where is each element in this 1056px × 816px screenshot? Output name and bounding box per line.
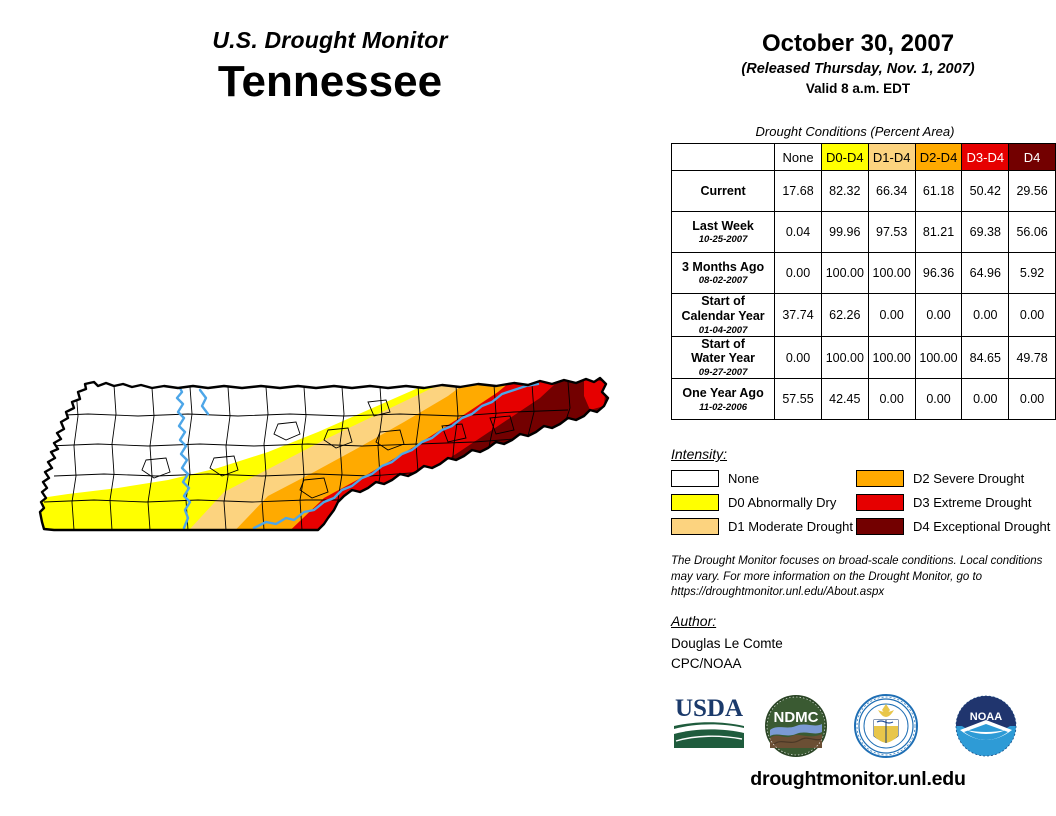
- legend-label-d1: D1 Moderate Drought: [728, 519, 853, 534]
- table-cell: 0.00: [915, 294, 962, 337]
- table-cell: 0.00: [775, 336, 822, 379]
- program-title: U.S. Drought Monitor: [0, 28, 660, 53]
- drought-conditions-table: None D0-D4 D1-D4 D2-D4 D3-D4 D4 Current1…: [671, 143, 1056, 420]
- release-date: October 30, 2007: [660, 30, 1056, 58]
- header-d1-d4: D1-D4: [868, 144, 915, 171]
- legend-swatch-d4: [856, 518, 904, 535]
- table-cell: 99.96: [821, 212, 868, 253]
- table-cell: 66.34: [868, 171, 915, 212]
- drought-intensity-bands: [28, 372, 640, 542]
- table-cell: 82.32: [821, 171, 868, 212]
- table-cell: 0.00: [962, 294, 1009, 337]
- table-row: Start ofWater Year09-27-20070.00100.0010…: [672, 336, 1056, 379]
- ndmc-logo: NDMC: [760, 690, 832, 762]
- state-title: Tennessee: [0, 57, 660, 108]
- intensity-legend: NoneD2 Severe DroughtD0 Abnormally DryD3…: [671, 466, 1051, 538]
- table-cell: 50.42: [962, 171, 1009, 212]
- table-cell: 0.04: [775, 212, 822, 253]
- released-note: (Released Thursday, Nov. 1, 2007): [660, 61, 1056, 78]
- legend-swatch-d1: [671, 518, 719, 535]
- site-url: droughtmonitor.unl.edu: [660, 768, 1056, 791]
- table-cell: 96.36: [915, 253, 962, 294]
- legend-item-d0: D0 Abnormally Dry: [671, 494, 856, 511]
- legend-label-d2: D2 Severe Drought: [913, 471, 1024, 486]
- valid-note: Valid 8 a.m. EDT: [660, 81, 1056, 97]
- title-block: U.S. Drought Monitor Tennessee: [0, 28, 660, 108]
- table-cell: 42.45: [821, 379, 868, 420]
- table-cell: 81.21: [915, 212, 962, 253]
- intensity-heading: Intensity:: [671, 446, 727, 462]
- table-cell: 62.26: [821, 294, 868, 337]
- row-label: Start ofWater Year09-27-2007: [672, 336, 775, 379]
- table-cell: 100.00: [821, 253, 868, 294]
- map-svg: [28, 372, 640, 542]
- legend-swatch-d3: [856, 494, 904, 511]
- table-header-row: None D0-D4 D1-D4 D2-D4 D3-D4 D4: [672, 144, 1056, 171]
- row-label: Current: [672, 171, 775, 212]
- row-label: Start ofCalendar Year01-04-2007: [672, 294, 775, 337]
- legend-label-d3: D3 Extreme Drought: [913, 495, 1032, 510]
- table-cell: 100.00: [821, 336, 868, 379]
- author-name: Douglas Le Comte: [671, 634, 783, 654]
- table-cell: 0.00: [1009, 379, 1056, 420]
- table-row: Start ofCalendar Year01-04-200737.7462.2…: [672, 294, 1056, 337]
- table-cell: 0.00: [775, 253, 822, 294]
- legend-item-none: None: [671, 470, 856, 487]
- author-heading: Author:: [671, 613, 716, 629]
- table-cell: 56.06: [1009, 212, 1056, 253]
- table-cell: 0.00: [915, 379, 962, 420]
- table-cell: 100.00: [868, 336, 915, 379]
- legend-label-d0: D0 Abnormally Dry: [728, 495, 836, 510]
- usda-logo: USDA: [670, 690, 748, 752]
- table-cell: 69.38: [962, 212, 1009, 253]
- legend-item-d4: D4 Exceptional Drought: [856, 518, 1051, 535]
- info-panel: October 30, 2007 (Released Thursday, Nov…: [660, 0, 1056, 816]
- table-cell: 0.00: [1009, 294, 1056, 337]
- table-cell: 0.00: [962, 379, 1009, 420]
- disclaimer-text: The Drought Monitor focuses on broad-sca…: [671, 554, 1051, 601]
- table-cell: 97.53: [868, 212, 915, 253]
- legend-swatch-none: [671, 470, 719, 487]
- row-label: One Year Ago11-02-2006: [672, 379, 775, 420]
- row-date: 08-02-2007: [672, 275, 774, 286]
- table-cell: 84.65: [962, 336, 1009, 379]
- table-cell: 29.56: [1009, 171, 1056, 212]
- table-cell: 57.55: [775, 379, 822, 420]
- legend-item-d3: D3 Extreme Drought: [856, 494, 1051, 511]
- date-block: October 30, 2007 (Released Thursday, Nov…: [660, 30, 1056, 97]
- table-cell: 49.78: [1009, 336, 1056, 379]
- row-date: 01-04-2007: [672, 325, 774, 336]
- logo-row: USDA NDMC: [665, 690, 1055, 770]
- table-cell: 61.18: [915, 171, 962, 212]
- author-affiliation: CPC/NOAA: [671, 654, 783, 674]
- table-cell: 100.00: [868, 253, 915, 294]
- header-none: None: [775, 144, 822, 171]
- legend-label-d4: D4 Exceptional Drought: [913, 519, 1050, 534]
- usda-logo-text: USDA: [675, 695, 743, 722]
- table-row: Last Week10-25-20070.0499.9697.5381.2169…: [672, 212, 1056, 253]
- noaa-logo-text: NOAA: [970, 711, 1002, 723]
- ndmc-logo-text: NDMC: [774, 709, 819, 726]
- table-cell: 0.00: [868, 294, 915, 337]
- table-cell: 5.92: [1009, 253, 1056, 294]
- tennessee-drought-map: [28, 372, 640, 542]
- table-cell: 17.68: [775, 171, 822, 212]
- row-label: 3 Months Ago08-02-2007: [672, 253, 775, 294]
- table-row: One Year Ago11-02-200657.5542.450.000.00…: [672, 379, 1056, 420]
- table-cell: 100.00: [915, 336, 962, 379]
- table-caption: Drought Conditions (Percent Area): [660, 124, 1050, 139]
- header-d0-d4: D0-D4: [821, 144, 868, 171]
- header-d3-d4: D3-D4: [962, 144, 1009, 171]
- header-d2-d4: D2-D4: [915, 144, 962, 171]
- header-d4: D4: [1009, 144, 1056, 171]
- table-cell: 0.00: [868, 379, 915, 420]
- row-date: 10-25-2007: [672, 234, 774, 245]
- table-row: Current17.6882.3266.3461.1850.4229.56: [672, 171, 1056, 212]
- table-cell: 37.74: [775, 294, 822, 337]
- header-blank: [672, 144, 775, 171]
- map-panel: U.S. Drought Monitor Tennessee: [0, 0, 660, 816]
- legend-item-d1: D1 Moderate Drought: [671, 518, 856, 535]
- legend-swatch-d2: [856, 470, 904, 487]
- table-cell: 64.96: [962, 253, 1009, 294]
- row-date: 09-27-2007: [672, 367, 774, 378]
- row-label: Last Week10-25-2007: [672, 212, 775, 253]
- noaa-logo: NOAA: [950, 690, 1022, 762]
- row-date: 11-02-2006: [672, 402, 774, 413]
- legend-swatch-d0: [671, 494, 719, 511]
- table-row: 3 Months Ago08-02-20070.00100.00100.0096…: [672, 253, 1056, 294]
- commerce-seal-logo: [850, 690, 922, 762]
- legend-item-d2: D2 Severe Drought: [856, 470, 1051, 487]
- author-block: Douglas Le Comte CPC/NOAA: [671, 634, 783, 673]
- legend-label-none: None: [728, 471, 759, 486]
- table-body: Current17.6882.3266.3461.1850.4229.56Las…: [672, 171, 1056, 420]
